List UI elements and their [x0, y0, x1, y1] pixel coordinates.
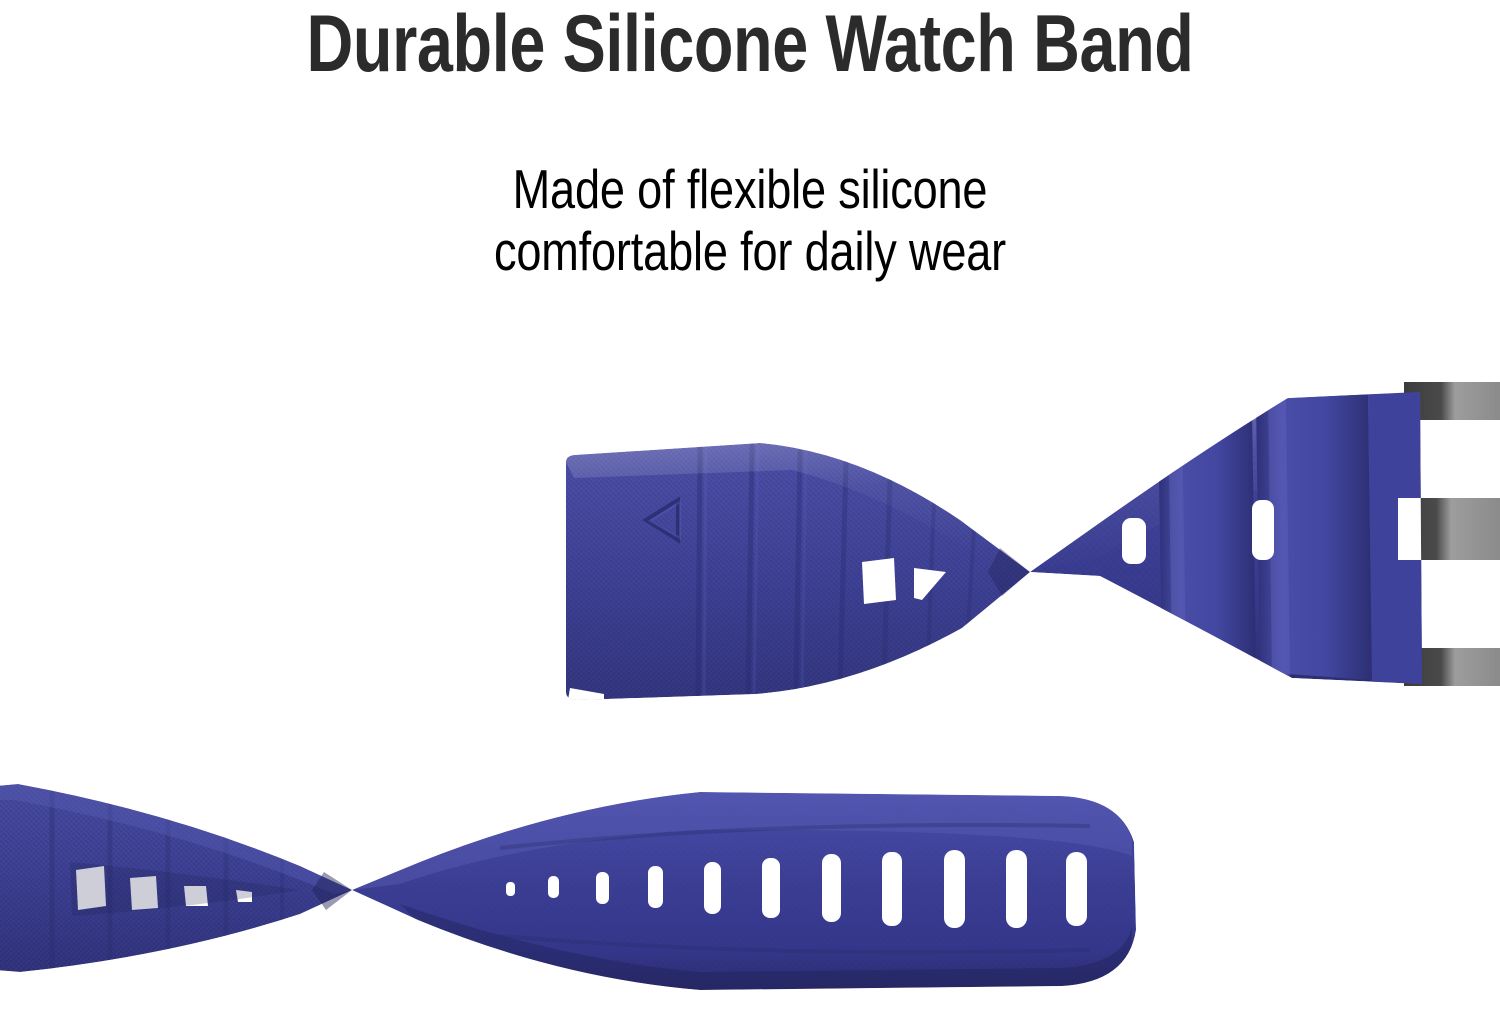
- upper-band-right-section: [1020, 380, 1440, 700]
- lower-band-right-section: [340, 780, 1160, 1000]
- lower-band-left-section: [0, 780, 370, 980]
- lower-adjust-hole-7: [822, 854, 841, 922]
- lower-adjust-hole-8: [882, 852, 902, 926]
- keeper-ridge-1-highlight: [1168, 414, 1186, 660]
- upper-watch-band-strap: [560, 380, 1500, 704]
- lower-adjust-hole-3: [596, 872, 609, 904]
- lower-watch-band-strap: [0, 780, 1160, 1000]
- upper-band-left-section: [560, 440, 1040, 704]
- product-photo-watch-bands: [0, 0, 1500, 1026]
- lower-adjust-hole-4: [648, 866, 663, 908]
- upper-adjust-hole-3: [1252, 500, 1274, 560]
- lower-adjust-hole-2: [548, 876, 559, 898]
- upper-adjust-hole-1: [862, 558, 896, 604]
- watch-bands-illustration: [0, 0, 1500, 1026]
- upper-adjust-hole-2: [1122, 518, 1146, 564]
- lower-adjust-hole-1: [506, 882, 515, 896]
- lower-adjust-hole-9: [944, 850, 965, 928]
- lower-adjust-hole-5: [704, 862, 721, 914]
- lower-adjust-hole-10: [1006, 850, 1027, 928]
- lower-adjust-hole-11: [1066, 852, 1087, 926]
- product-feature-banner: Durable Silicone Watch Band Made of flex…: [0, 0, 1500, 1026]
- lower-adjust-hole-6: [762, 858, 780, 918]
